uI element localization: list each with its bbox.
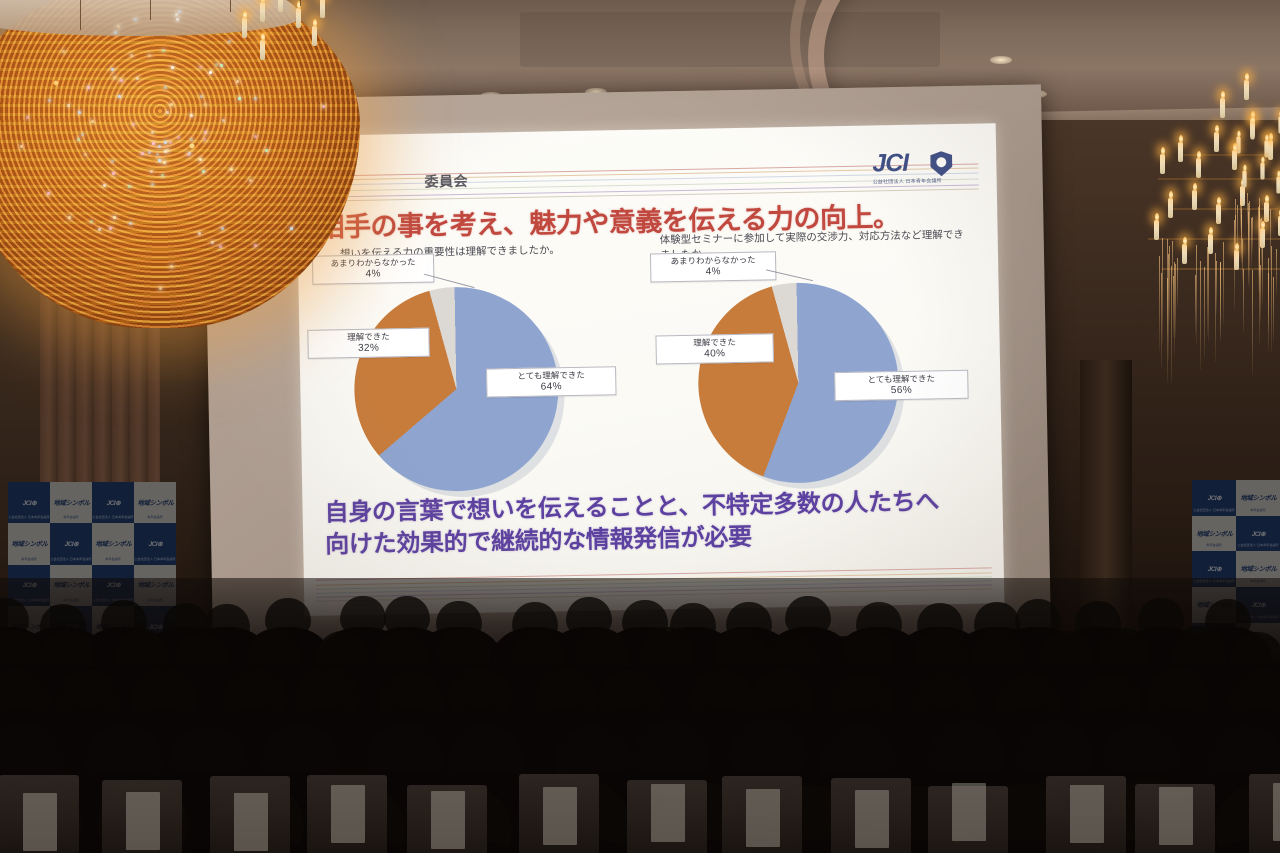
chandelier-candle <box>1260 163 1264 180</box>
chandelier-candle <box>1192 190 1197 210</box>
chandelier-candle <box>312 26 317 46</box>
chandelier-sparkle <box>48 99 51 102</box>
chandelier-sparkle <box>151 131 154 134</box>
chandelier-candle <box>320 0 325 18</box>
presentation-slide: 委員会 JCI 公益社団法人 日本青年会議所 相手の事を考え、魅力や意義を伝える… <box>296 123 1005 616</box>
chandelier-candle <box>278 0 283 12</box>
seat-placard <box>331 785 365 843</box>
chandelier-crystal-drape <box>1161 273 1162 368</box>
chandelier-sparkle <box>120 79 123 82</box>
chandelier-sparkle <box>221 227 224 230</box>
chandelier-sparkle <box>169 141 172 144</box>
chandelier-sparkle <box>204 131 207 134</box>
chandelier-sparkle <box>178 10 181 13</box>
chandelier-chain <box>150 0 151 20</box>
chandelier-crystal-drape <box>1259 211 1260 294</box>
chandelier-crystal-drape <box>1220 262 1221 341</box>
chandelier-sparkle <box>112 172 115 175</box>
chandelier-crystal-drape <box>1216 261 1217 314</box>
chandelier-sparkle <box>114 31 117 34</box>
seat-placard <box>1070 785 1104 843</box>
chandelier-sparkle <box>90 220 93 223</box>
chandelier-crystal-drape <box>1174 262 1175 356</box>
chandelier-sparkle <box>150 170 153 173</box>
chandelier-sparkle <box>164 86 167 89</box>
chandelier-candle <box>242 18 247 38</box>
chandelier-sparkle <box>62 50 65 53</box>
chandelier-crystal-drape <box>1223 242 1224 325</box>
seat-placard <box>1273 783 1280 841</box>
chandelier-crystal-drape <box>1175 264 1176 338</box>
chandelier-sparkle <box>222 119 225 122</box>
callout-left-verywell: とても理解できた 64% <box>486 366 617 398</box>
chandelier-sparkle <box>203 138 206 141</box>
seat-placard <box>855 790 889 848</box>
chandelier-tiers <box>0 0 360 328</box>
chandelier-sparkle <box>128 185 131 188</box>
chandelier-candle <box>260 2 265 22</box>
chandelier-candle <box>1182 244 1187 264</box>
chandelier-crystal-drape <box>1200 261 1201 370</box>
chandelier-candle <box>1214 132 1219 152</box>
seat-placard <box>952 783 986 841</box>
jci-wordmark: JCI <box>872 149 980 176</box>
chandelier-sparkle <box>166 111 169 114</box>
seat-placard <box>1159 787 1193 845</box>
chandelier-candle <box>1208 234 1213 254</box>
chandelier-crystal-drape <box>1168 254 1169 360</box>
callout-right-nounderstand: あまりわからなかった 4% <box>650 251 777 282</box>
chandelier-crystal-drape <box>1249 201 1250 287</box>
chandelier-sparkle <box>109 227 112 230</box>
chandelier-sparkle <box>20 145 23 148</box>
chandelier-crystal-drape <box>1247 193 1248 224</box>
jci-logo-subtitle: 公益社団法人 日本青年会議所 <box>873 177 942 185</box>
chandelier-sparkle <box>78 111 81 114</box>
chandelier-crystal-drape <box>1252 217 1253 254</box>
chandelier-crystal-drape <box>1208 251 1209 342</box>
chandelier-crystal-drape <box>1195 275 1196 335</box>
chandelier-crystal-drape <box>1261 218 1262 269</box>
chandelier-crystal-drape <box>1252 270 1253 375</box>
chandelier-sparkle <box>103 184 106 187</box>
callout-left-understand: 理解できた 32% <box>307 328 430 359</box>
seat-placard <box>234 793 268 851</box>
chandelier-crystal-drape <box>1169 246 1170 322</box>
callout-right-verywell: とても理解できた 56% <box>834 370 969 402</box>
chandelier-sparkle <box>290 227 293 230</box>
chandelier-candle <box>1232 151 1236 168</box>
callout-right-understand: 理解できた 40% <box>655 333 774 364</box>
seat-placard <box>746 789 780 847</box>
chandelier-sparkle <box>177 136 180 139</box>
chandelier-crystal-drape <box>1235 215 1236 269</box>
chandelier-candle <box>1242 171 1246 188</box>
chandelier-chain <box>80 0 81 30</box>
far-right-chandelier <box>1230 95 1280 285</box>
chandelier-sparkle <box>190 138 193 141</box>
seat-placard <box>651 784 685 842</box>
chandelier-candle <box>1154 220 1159 240</box>
chandelier-sparkle <box>158 145 161 148</box>
chandelier-sparkle <box>220 64 223 67</box>
chandelier-sparkle <box>81 133 84 136</box>
photo-scene: 委員会 JCI 公益社団法人 日本青年会議所 相手の事を考え、魅力や意義を伝える… <box>0 0 1280 853</box>
audience-silhouettes <box>0 578 1280 853</box>
chandelier-candle <box>1264 141 1268 158</box>
chandelier-candle <box>296 8 301 28</box>
chandelier-crystal-drape <box>1270 209 1271 269</box>
chandelier-sparkle <box>199 66 202 69</box>
chandelier-candle <box>260 40 265 60</box>
chandelier-crystal-drape <box>1159 256 1160 352</box>
chandelier-candle <box>1250 123 1254 140</box>
chandelier-sparkle <box>148 54 151 57</box>
chandelier-sparkle <box>236 80 239 83</box>
chandelier-crystal-drape <box>1241 215 1242 265</box>
chandelier-chain <box>300 0 301 6</box>
chandelier-sparkle <box>190 114 193 117</box>
seat-placard <box>431 791 465 849</box>
chandelier-candle <box>1276 177 1280 194</box>
chandelier-candle <box>1216 204 1221 224</box>
chandelier-candle <box>1178 142 1183 162</box>
slide-header-category: 委員会 <box>424 171 468 192</box>
chandelier-crystal-drape <box>1177 258 1178 308</box>
chandelier-candle <box>1220 98 1225 118</box>
seat-placard <box>126 792 160 850</box>
chandelier-candle <box>1196 158 1201 178</box>
chandelier-sparkle <box>249 179 252 182</box>
seat-placard <box>543 787 577 845</box>
chandelier-sparkle <box>152 142 155 145</box>
chandelier-sparkle <box>215 63 218 66</box>
chandelier-crystal-drape <box>1173 276 1174 338</box>
chandelier-crystal-drape <box>1237 205 1238 259</box>
chandelier-sparkle <box>148 151 151 154</box>
ceiling-downlight <box>990 56 1012 64</box>
chandelier-sparkle <box>129 222 132 225</box>
chandelier-candle <box>1160 154 1165 174</box>
chandelier-crystal-drape <box>1204 267 1205 358</box>
seat-placard <box>23 793 57 851</box>
chandelier-candle <box>1236 137 1240 154</box>
chandelier-crystal-drape <box>1273 277 1274 342</box>
main-chandelier <box>0 0 360 328</box>
jci-logo: JCI 公益社団法人 日本青年会議所 <box>872 149 981 191</box>
chandelier-candle <box>1168 198 1173 218</box>
slide-conclusion: 自身の言葉で想いを伝えることと、不特定多数の人たちへ 向けた効果的で継続的な情報… <box>324 485 985 560</box>
chandelier-sparkle <box>219 245 222 248</box>
chandelier-chain <box>230 0 231 12</box>
